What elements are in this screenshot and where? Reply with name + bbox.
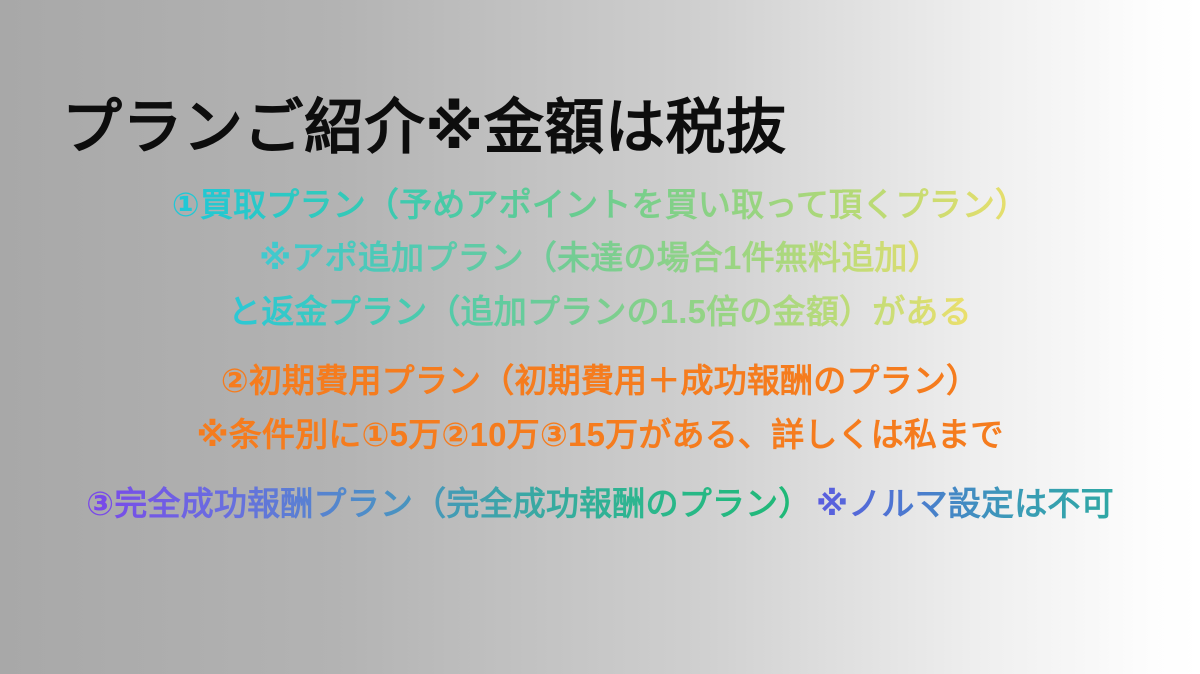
page-title: プランご紹介※金額は税抜 bbox=[62, 94, 786, 161]
plan-1-line-1: ①買取プラン（予めアポイントを買い取って頂くプラン） bbox=[172, 178, 1029, 231]
plan-block-buyout: ①買取プラン（予めアポイントを買い取って頂くプラン） ※アポ追加プラン（未達の場… bbox=[0, 178, 1200, 338]
slide-canvas: プランご紹介※金額は税抜 ①買取プラン（予めアポイントを買い取って頂くプラン） … bbox=[0, 0, 1200, 674]
plan-2-line-1: ②初期費用プラン（初期費用＋成功報酬のプラン） bbox=[0, 354, 1200, 407]
plan-3-line-1: ③完全成功報酬プラン（完全成功報酬のプラン） bbox=[86, 477, 811, 530]
slide-body: ①買取プラン（予めアポイントを買い取って頂くプラン） ※アポ追加プラン（未達の場… bbox=[0, 178, 1200, 531]
plan-block-initial-cost: ②初期費用プラン（初期費用＋成功報酬のプラン） ※条件別に①5万②10万③15万… bbox=[0, 354, 1200, 461]
plan-1-line-2: ※アポ追加プラン（未達の場合1件無料追加） bbox=[259, 231, 941, 284]
plan-1-line-3: と返金プラン（追加プランの1.5倍の金額）がある bbox=[228, 285, 972, 338]
plan-2-line-2: ※条件別に①5万②10万③15万がある、詳しくは私まで bbox=[0, 408, 1200, 461]
plan-block-full-commission: ③完全成功報酬プラン（完全成功報酬のプラン） ※ノルマ設定は不可 bbox=[0, 477, 1200, 530]
plan-3-line-2: ※ノルマ設定は不可 bbox=[816, 477, 1114, 530]
